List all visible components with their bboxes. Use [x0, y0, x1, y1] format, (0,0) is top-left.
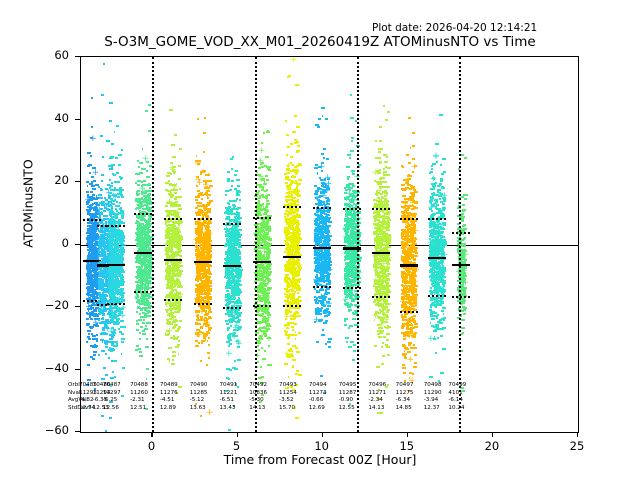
- data-point: [98, 287, 100, 289]
- data-point: [171, 144, 175, 146]
- data-point: [92, 338, 95, 340]
- data-point: [87, 265, 89, 267]
- data-point: [173, 338, 176, 340]
- data-point: [170, 242, 172, 244]
- data-point: [146, 170, 148, 172]
- data-point: [105, 221, 107, 223]
- data-point: [122, 367, 125, 369]
- data-point: [95, 315, 97, 317]
- data-point: [139, 172, 143, 174]
- data-point: [206, 280, 208, 282]
- plot-date-label: Plot date: 2026-04-20 12:14:21: [372, 22, 537, 34]
- data-point: [110, 209, 113, 211]
- data-point: [105, 430, 108, 432]
- data-point: [121, 257, 124, 259]
- data-point: [227, 255, 229, 257]
- data-point: [99, 221, 103, 223]
- data-point: [202, 264, 205, 266]
- data-point: [95, 271, 97, 273]
- data-point: [196, 284, 199, 286]
- data-point: [101, 350, 105, 352]
- sigma-marker: [194, 303, 212, 305]
- data-point: [108, 165, 111, 167]
- data-point: [226, 282, 229, 284]
- data-point: [140, 217, 144, 219]
- data-point: [119, 240, 122, 242]
- data-point: [225, 235, 228, 237]
- data-point: [111, 269, 113, 271]
- data-point: [197, 222, 199, 224]
- data-point: [118, 328, 120, 330]
- data-point: [201, 198, 203, 200]
- data-point: [203, 207, 207, 209]
- data-point: [110, 257, 114, 259]
- data-point: [170, 337, 173, 339]
- data-point: [101, 94, 105, 96]
- data-point: [195, 298, 198, 300]
- data-point: [92, 185, 94, 187]
- data-point: [135, 261, 138, 263]
- data-point: [165, 189, 168, 191]
- x-axis-label: Time from Forecast 00Z [Hour]: [0, 452, 640, 467]
- data-point: [234, 360, 236, 362]
- data-point: [206, 322, 208, 324]
- data-point: [225, 194, 228, 196]
- data-point: [227, 171, 230, 173]
- data-point: [114, 341, 117, 343]
- data-point: [195, 340, 199, 342]
- data-point: [172, 355, 176, 357]
- data-point: [146, 286, 149, 288]
- data-point: [172, 231, 175, 233]
- data-point: [111, 300, 113, 302]
- data-point: [113, 345, 116, 347]
- data-point: [146, 161, 149, 163]
- data-point: [121, 222, 125, 224]
- mean-marker: [223, 265, 241, 267]
- data-point: [205, 339, 207, 341]
- data-point: [140, 201, 144, 203]
- data-point: [142, 184, 145, 186]
- data-point: [93, 291, 96, 293]
- data-point: [174, 244, 178, 246]
- data-point: +: [169, 271, 177, 277]
- data-point: [230, 211, 233, 213]
- data-point: +: [206, 410, 214, 416]
- data-point: [234, 174, 237, 176]
- data-point: [121, 233, 123, 235]
- data-point: [120, 189, 124, 191]
- data-point: [112, 173, 115, 175]
- data-point: [179, 320, 182, 322]
- data-point: [142, 330, 145, 332]
- data-point: [94, 304, 96, 306]
- data-point: [142, 293, 144, 295]
- data-point: [142, 302, 145, 304]
- data-point: [104, 247, 106, 249]
- data-point: [143, 298, 146, 300]
- data-point: [170, 205, 173, 207]
- data-point: [195, 238, 199, 240]
- plot-area: ++++++++++++++++++++++++++++++++++++++++…: [80, 56, 579, 433]
- data-point: [208, 327, 212, 329]
- data-point: [166, 311, 168, 313]
- data-point: [109, 307, 112, 309]
- data-point: [172, 290, 174, 292]
- data-point: [118, 292, 120, 294]
- data-point: [237, 309, 240, 311]
- data-point: [207, 340, 209, 342]
- data-point: [146, 322, 150, 324]
- data-point: [136, 271, 138, 273]
- data-point: [90, 345, 94, 347]
- data-point: [146, 338, 148, 340]
- data-point: [200, 360, 202, 362]
- data-point: [110, 205, 113, 207]
- data-point: [200, 241, 202, 243]
- data-point: [104, 294, 107, 296]
- data-point: [209, 185, 213, 187]
- data-point: [175, 241, 177, 243]
- data-point: [147, 307, 151, 309]
- data-point: [148, 183, 150, 185]
- data-point: [99, 197, 103, 199]
- data-point: [166, 251, 170, 253]
- data-point: [230, 273, 234, 275]
- data-point: [86, 341, 88, 343]
- data-point: [100, 188, 102, 190]
- data-point: [98, 297, 101, 299]
- data-point: [106, 188, 108, 190]
- data-point: [98, 230, 101, 232]
- data-point: [231, 228, 234, 230]
- data-point: [91, 333, 93, 335]
- data-point: [165, 332, 167, 334]
- data-point: [114, 284, 117, 286]
- data-point: [228, 339, 232, 341]
- data-point: [207, 238, 210, 240]
- data-point: [176, 251, 179, 253]
- data-point: [141, 269, 143, 271]
- data-point: [170, 302, 174, 304]
- data-point: [100, 312, 102, 314]
- data-point: [207, 208, 210, 210]
- data-point: [101, 378, 105, 380]
- data-point: [91, 274, 93, 276]
- data-point: [208, 271, 212, 273]
- data-point: [228, 262, 231, 264]
- data-point: [234, 285, 237, 287]
- data-point: [108, 281, 112, 283]
- data-point: [87, 152, 91, 154]
- data-point: [110, 309, 112, 311]
- data-point: [110, 198, 114, 200]
- data-point: [179, 265, 183, 267]
- data-point: [139, 223, 141, 225]
- data-point: [93, 254, 96, 256]
- data-point: [228, 235, 230, 237]
- data-point: [206, 297, 208, 299]
- data-point: [226, 323, 229, 325]
- data-point: [115, 260, 118, 262]
- data-point: [136, 216, 139, 218]
- data-point: [227, 233, 229, 235]
- data-point: [146, 275, 149, 277]
- data-point: [136, 323, 139, 325]
- data-point: [87, 194, 89, 196]
- data-point: [118, 154, 122, 156]
- data-point: [147, 295, 150, 297]
- data-point: [145, 325, 147, 327]
- data-point: [177, 293, 181, 295]
- data-point: [198, 209, 202, 211]
- data-point: [168, 347, 172, 349]
- data-point: [111, 238, 113, 240]
- data-point: [174, 134, 177, 136]
- data-point: [175, 330, 178, 332]
- data-point: [195, 245, 198, 247]
- data-point: [172, 359, 174, 361]
- data-point: [121, 338, 124, 340]
- data-point: [103, 257, 106, 259]
- data-point: [87, 364, 90, 366]
- data-point: [234, 241, 237, 243]
- data-point: [174, 261, 177, 263]
- data-point: [135, 222, 138, 224]
- data-point: [205, 276, 209, 278]
- data-point: [178, 286, 180, 288]
- data-point: [142, 307, 146, 309]
- data-point: [108, 269, 110, 271]
- data-point: [88, 196, 91, 198]
- data-point: [207, 246, 209, 248]
- data-point: [203, 323, 207, 325]
- data-point: [86, 324, 88, 326]
- data-point: [236, 215, 239, 217]
- data-point: [231, 185, 233, 187]
- data-point: [121, 217, 124, 219]
- data-point: [137, 296, 139, 298]
- data-point: [121, 177, 123, 179]
- data-point: [88, 338, 90, 340]
- data-point: [86, 293, 90, 295]
- data-point: [171, 363, 175, 365]
- data-point: [208, 311, 212, 313]
- data-point: [238, 277, 241, 279]
- data-point: [204, 117, 206, 119]
- data-point: [116, 322, 120, 324]
- data-point: [208, 202, 210, 204]
- data-point: [209, 282, 212, 284]
- data-point: [109, 168, 113, 170]
- data-point: [116, 318, 120, 320]
- data-point: [149, 187, 151, 189]
- data-point: [94, 318, 96, 320]
- data-point: [142, 148, 144, 150]
- data-point: [137, 184, 139, 186]
- data-point: [207, 291, 210, 293]
- data-point: [99, 309, 101, 311]
- sigma-marker: [107, 225, 125, 227]
- data-point: [231, 289, 234, 291]
- data-point: [105, 199, 107, 201]
- data-point: [208, 265, 212, 267]
- data-point: [148, 231, 151, 233]
- data-point: [265, 175, 268, 177]
- data-point: [167, 233, 169, 235]
- data-point: [148, 104, 151, 106]
- data-point: [120, 243, 123, 245]
- data-point: [118, 164, 122, 166]
- data-point: [224, 212, 227, 214]
- data-point: [204, 314, 206, 316]
- data-point: [237, 291, 240, 293]
- data-point: [104, 313, 106, 315]
- data-point: [227, 178, 230, 180]
- data-point: [139, 338, 141, 340]
- data-point: [103, 63, 105, 65]
- data-point: [205, 270, 207, 272]
- y-axis-label: ATOMinusNTO: [21, 94, 36, 314]
- data-point: [237, 359, 241, 361]
- data-point: [143, 180, 146, 182]
- data-point: [178, 165, 182, 167]
- data-point: [143, 271, 147, 273]
- data-point: [105, 353, 107, 355]
- data-point: [167, 172, 171, 174]
- data-point: [167, 333, 169, 335]
- data-point: [228, 284, 230, 286]
- data-point: [225, 231, 227, 233]
- data-point: [178, 222, 182, 224]
- data-point: [102, 317, 104, 319]
- data-point: [149, 190, 152, 192]
- data-point: [178, 326, 181, 328]
- data-point: [204, 283, 206, 285]
- data-point: [198, 278, 201, 280]
- data-point: [86, 181, 89, 183]
- data-point: [103, 328, 106, 330]
- data-point: [92, 358, 94, 360]
- data-point: [168, 212, 172, 214]
- data-point: [179, 255, 183, 257]
- data-point: [121, 326, 125, 328]
- data-point: [109, 227, 113, 229]
- data-point: [104, 342, 108, 344]
- data-point: [120, 230, 123, 232]
- data-point: [237, 346, 240, 348]
- data-point: [98, 243, 102, 245]
- data-point: [228, 429, 231, 431]
- data-point: [90, 214, 93, 216]
- data-point: [266, 179, 269, 181]
- data-point: [92, 194, 96, 196]
- data-point: [119, 187, 122, 189]
- data-point: [166, 284, 168, 286]
- data-point: [173, 254, 176, 256]
- data-point: [139, 260, 143, 262]
- data-point: [235, 170, 238, 172]
- data-point: [207, 197, 209, 199]
- data-point: [165, 210, 167, 212]
- data-point: [165, 205, 168, 207]
- data-point: [167, 296, 169, 298]
- data-point: [149, 201, 151, 203]
- data-point: [146, 368, 150, 370]
- data-point: [236, 294, 240, 296]
- data-point: [170, 195, 174, 197]
- data-point: [238, 317, 240, 319]
- data-point: [142, 264, 145, 266]
- data-point: [199, 296, 202, 298]
- data-point: [225, 190, 229, 192]
- data-point: [262, 358, 266, 360]
- data-point: [206, 190, 209, 192]
- data-point: [239, 284, 242, 286]
- data-point: [114, 376, 116, 378]
- data-point: [239, 199, 242, 201]
- data-point: [121, 212, 124, 214]
- data-point: [231, 168, 233, 170]
- data-point: [175, 346, 179, 348]
- data-point: [172, 327, 175, 329]
- data-point: [109, 321, 111, 323]
- data-point: [208, 248, 210, 250]
- data-point: [230, 298, 233, 300]
- data-point: [88, 252, 91, 254]
- data-point: [267, 364, 271, 366]
- data-point: +: [108, 329, 116, 335]
- data-point: [113, 298, 115, 300]
- data-point: [95, 345, 99, 347]
- data-point: [121, 215, 125, 217]
- sigma-marker: [164, 299, 182, 301]
- data-point: [168, 236, 172, 238]
- data-point: [207, 352, 210, 354]
- data-point: [109, 296, 111, 298]
- data-point: +: [116, 272, 124, 278]
- data-point: [109, 316, 112, 318]
- data-point: [139, 215, 143, 217]
- data-point: [96, 334, 98, 336]
- data-point: [137, 306, 140, 308]
- data-point: [139, 275, 142, 277]
- data-point: [178, 261, 182, 263]
- data-point: [172, 351, 174, 353]
- data-point: [92, 228, 95, 230]
- data-point: [102, 322, 106, 324]
- data-point: [235, 218, 237, 220]
- data-point: [90, 318, 93, 320]
- data-point: [136, 191, 138, 193]
- data-point: [230, 318, 234, 320]
- data-point: [170, 254, 173, 256]
- data-point: [91, 176, 94, 178]
- data-point: [177, 336, 179, 338]
- data-point: [120, 320, 124, 322]
- data-point: [173, 171, 176, 173]
- data-point: [102, 156, 105, 158]
- data-point: [227, 271, 231, 273]
- data-point: [105, 374, 108, 376]
- data-point: +: [173, 233, 181, 239]
- data-point: [110, 185, 113, 187]
- data-point: [205, 182, 207, 184]
- data-point: [268, 229, 270, 231]
- data-point: [121, 341, 123, 343]
- data-point: [229, 369, 232, 371]
- data-point: [178, 353, 180, 355]
